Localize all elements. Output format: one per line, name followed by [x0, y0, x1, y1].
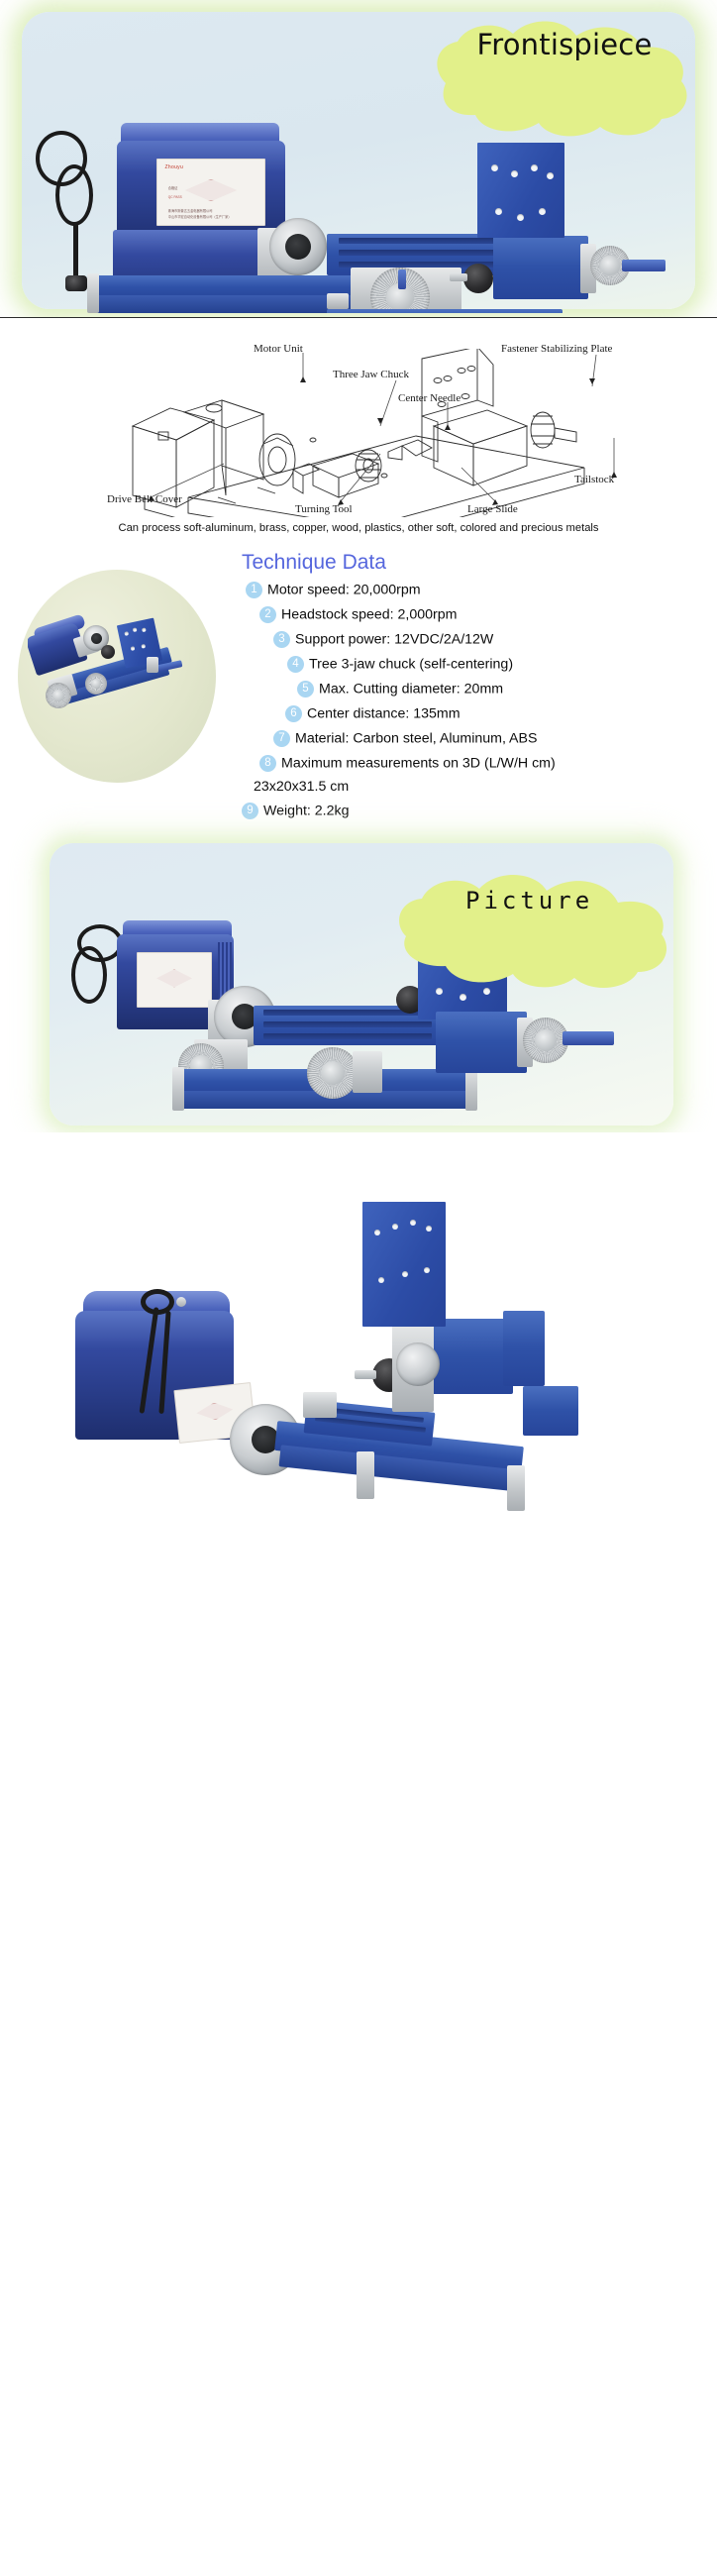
diagram-label-three-jaw-chuck: Three Jaw Chuck	[333, 369, 409, 380]
technique-data-list: 1Motor speed: 20,000rpm 2Headstock speed…	[0, 578, 717, 823]
technique-text-4: Tree 3-jaw chuck (self-centering)	[309, 656, 513, 672]
diagram-label-center-needle: Center Needle	[398, 392, 461, 404]
cert-line-2: QC PASS	[168, 195, 182, 199]
picture-product-photo	[69, 920, 654, 1119]
technique-item-1: 1Motor speed: 20,000rpm	[0, 578, 717, 602]
technique-data-section: Technique Data 1Motor speed: 20,000rpm 2…	[0, 548, 717, 835]
technique-text-3: Support power: 12VDC/2A/12W	[295, 631, 493, 647]
diagram-label-large-slide: Large Slide	[467, 503, 518, 515]
technique-badge-9: 9	[242, 803, 258, 819]
technique-item-6: 6Center distance: 135mm	[0, 701, 717, 726]
picture-section: Picture	[0, 835, 717, 1132]
technique-item-8-continuation: 23x20x31.5 cm	[0, 776, 717, 799]
technique-text-6: Center distance: 135mm	[307, 705, 461, 721]
product-brand-text: Zhouyu	[165, 164, 183, 170]
diagram-caption: Can process soft-aluminum, brass, copper…	[0, 522, 717, 534]
technique-text-9: Weight: 2.2kg	[263, 803, 350, 818]
technique-badge-2: 2	[259, 606, 276, 623]
technique-item-4: 4Tree 3-jaw chuck (self-centering)	[0, 652, 717, 677]
bottom-photo-section	[0, 1132, 717, 1585]
technique-badge-7: 7	[273, 730, 290, 747]
technique-badge-1: 1	[246, 582, 262, 598]
diagram-label-fastener-stabilizing-plate: Fastener Stabilizing Plate	[501, 343, 612, 355]
technique-badge-8: 8	[259, 755, 276, 772]
technique-badge-4: 4	[287, 656, 304, 673]
frontispiece-title: Frontispiece	[451, 28, 678, 61]
technique-item-9: 9Weight: 2.2kg	[0, 799, 717, 823]
diagram-label-motor-unit: Motor Unit	[254, 343, 303, 355]
technique-text-7: Material: Carbon steel, Aluminum, ABS	[295, 730, 537, 746]
cert-line-1: 合格证	[168, 185, 178, 190]
technique-badge-3: 3	[273, 631, 290, 648]
diagram-section: Fastener Stabilizing Plate Motor Unit Th…	[0, 317, 717, 550]
diagram-top-divider	[0, 317, 717, 318]
technique-item-5: 5Max. Cutting diameter: 20mm	[0, 677, 717, 701]
technique-text-8: Maximum measurements on 3D (L/W/H cm)	[281, 755, 556, 771]
technique-item-8: 8Maximum measurements on 3D (L/W/H cm)	[0, 751, 717, 776]
technique-text-5: Max. Cutting diameter: 20mm	[319, 681, 503, 697]
bottom-product-photo	[59, 1192, 654, 1519]
frontispiece-section: Frontispiece Zhouyu 合格证 QC PASS 珠海市斯普达五金…	[0, 0, 717, 317]
technique-item-2: 2Headstock speed: 2,000rpm	[0, 602, 717, 627]
technique-item-3: 3Support power: 12VDC/2A/12W	[0, 627, 717, 652]
diagram-label-tailstock: Tailstock	[574, 474, 614, 485]
diagram-label-drive-belt-cover: Drive Belt Cover	[107, 493, 182, 505]
company-line-2: 中山市华宏自动化设备有限公司（生产厂家）	[168, 214, 232, 219]
technique-data-title: Technique Data	[242, 551, 386, 575]
company-line-1: 珠海市斯普达五金电器有限公司	[168, 208, 213, 213]
frontispiece-product-photo: Zhouyu 合格证 QC PASS 珠海市斯普达五金电器有限公司 中山市华宏自…	[30, 119, 683, 313]
picture-title: Picture	[465, 887, 593, 914]
technique-item-7: 7Material: Carbon steel, Aluminum, ABS	[0, 726, 717, 751]
technique-badge-5: 5	[297, 681, 314, 698]
technique-badge-6: 6	[285, 705, 302, 722]
technique-text-1: Motor speed: 20,000rpm	[267, 582, 421, 597]
technique-text-2: Headstock speed: 2,000rpm	[281, 606, 457, 622]
diagram-label-turning-tool: Turning Tool	[295, 503, 353, 515]
